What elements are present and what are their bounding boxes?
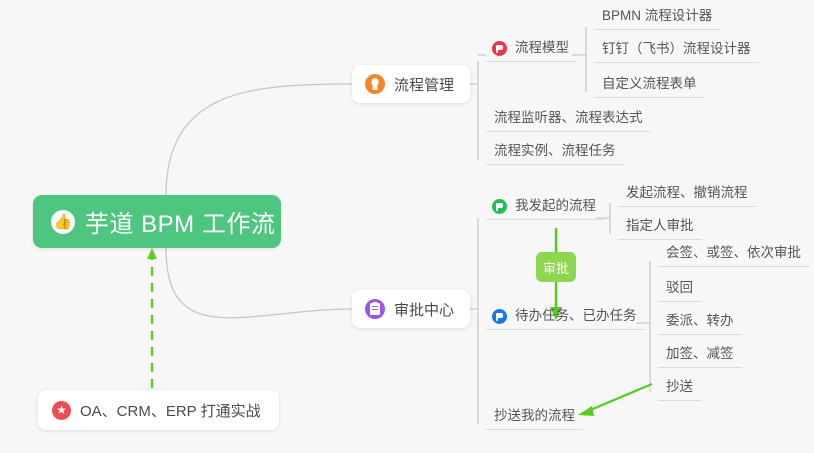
leaf-cc-to-me-processes[interactable]: 抄送我的流程 bbox=[486, 408, 583, 430]
clipboard-body bbox=[370, 303, 380, 315]
leaf-label-add-remove-sign: 加签、减签 bbox=[666, 346, 734, 362]
clipboard-clip bbox=[373, 302, 378, 305]
annotation-approval-label: 审批 bbox=[543, 258, 569, 277]
flag-icon bbox=[492, 199, 507, 214]
leaf-label-dingtalk-designer: 钉钉（飞书）流程设计器 bbox=[602, 41, 751, 57]
leaf-label-reject: 驳回 bbox=[666, 280, 693, 296]
leaf-add-remove-sign[interactable]: 加签、减签 bbox=[658, 346, 742, 368]
leaf-label-process-model: 流程模型 bbox=[515, 40, 569, 56]
thumbs-up-icon: 👍 bbox=[51, 210, 75, 234]
connector-root-to-branch-1 bbox=[166, 84, 352, 196]
arrow-note-to-root bbox=[147, 248, 157, 388]
leaf-label-my-initiated-processes: 我发起的流程 bbox=[515, 198, 596, 214]
flag-icon bbox=[492, 309, 507, 324]
leaf-custom-form[interactable]: 自定义流程表单 bbox=[594, 76, 705, 98]
leaf-label-cc-to-me-processes: 抄送我的流程 bbox=[494, 408, 575, 424]
leaf-label-assigned-approver: 指定人审批 bbox=[626, 218, 694, 234]
clipboard-lines bbox=[372, 306, 378, 307]
clipboard-icon bbox=[365, 299, 385, 319]
leaf-label-todo-done-tasks: 待办任务、已办任务 bbox=[515, 308, 637, 324]
star-icon: ★ bbox=[52, 401, 71, 420]
leaf-label-cc: 抄送 bbox=[666, 379, 693, 395]
connector-root-to-branch-2 bbox=[166, 248, 352, 318]
thumbs-up-glyph: 👍 bbox=[54, 214, 73, 229]
leaf-label-bpmn-designer: BPMN 流程设计器 bbox=[602, 8, 712, 24]
leaf-todo-done-tasks[interactable]: 待办任务、已办任务 bbox=[486, 308, 645, 330]
leaf-reject[interactable]: 驳回 bbox=[658, 280, 701, 302]
leaf-delegate-transfer[interactable]: 委派、转办 bbox=[658, 313, 742, 335]
mindmap-canvas: 👍 芋道 BPM 工作流 流程管理 流程模型 BPMN 流程设计器 钉钉（飞书）… bbox=[0, 0, 814, 453]
branch-card-approval-center[interactable]: 审批中心 bbox=[352, 290, 470, 328]
flag-icon bbox=[492, 41, 507, 56]
leaf-bpmn-designer[interactable]: BPMN 流程设计器 bbox=[594, 8, 720, 30]
leaf-process-model[interactable]: 流程模型 bbox=[486, 40, 577, 62]
leaf-countersign[interactable]: 会签、或签、依次审批 bbox=[658, 245, 809, 267]
root-node-label: 芋道 BPM 工作流 bbox=[85, 204, 275, 239]
note-card-integration[interactable]: ★ OA、CRM、ERP 打通实战 bbox=[38, 390, 279, 430]
leaf-process-listener[interactable]: 流程监听器、流程表达式 bbox=[486, 110, 651, 132]
lightbulb-stem bbox=[373, 86, 378, 90]
leaf-process-instance[interactable]: 流程实例、流程任务 bbox=[486, 143, 624, 165]
lightbulb-icon bbox=[365, 74, 385, 94]
star-glyph: ★ bbox=[56, 404, 67, 416]
arrow-cc-to-cc-flow bbox=[578, 384, 652, 416]
leaf-start-cancel-process[interactable]: 发起流程、撤销流程 bbox=[618, 185, 756, 207]
root-node[interactable]: 👍 芋道 BPM 工作流 bbox=[33, 195, 281, 248]
branch-label-approval-center: 审批中心 bbox=[394, 299, 454, 320]
leaf-label-custom-form: 自定义流程表单 bbox=[602, 76, 697, 92]
branch-card-process-management[interactable]: 流程管理 bbox=[352, 65, 470, 103]
leaf-cc[interactable]: 抄送 bbox=[658, 379, 701, 401]
note-card-label: OA、CRM、ERP 打通实战 bbox=[80, 400, 261, 421]
leaf-label-delegate-transfer: 委派、转办 bbox=[666, 313, 734, 329]
leaf-label-process-instance: 流程实例、流程任务 bbox=[494, 143, 616, 159]
branch-label-process-management: 流程管理 bbox=[394, 74, 454, 95]
leaf-my-initiated-processes[interactable]: 我发起的流程 bbox=[486, 198, 604, 220]
leaf-label-countersign: 会签、或签、依次审批 bbox=[666, 245, 801, 261]
leaf-dingtalk-designer[interactable]: 钉钉（飞书）流程设计器 bbox=[594, 41, 759, 63]
leaf-label-process-listener: 流程监听器、流程表达式 bbox=[494, 110, 643, 126]
leaf-assigned-approver[interactable]: 指定人审批 bbox=[618, 218, 702, 240]
annotation-approval: 审批 bbox=[536, 252, 576, 282]
leaf-label-start-cancel-process: 发起流程、撤销流程 bbox=[626, 185, 748, 201]
lightbulb-bulb bbox=[372, 78, 379, 86]
